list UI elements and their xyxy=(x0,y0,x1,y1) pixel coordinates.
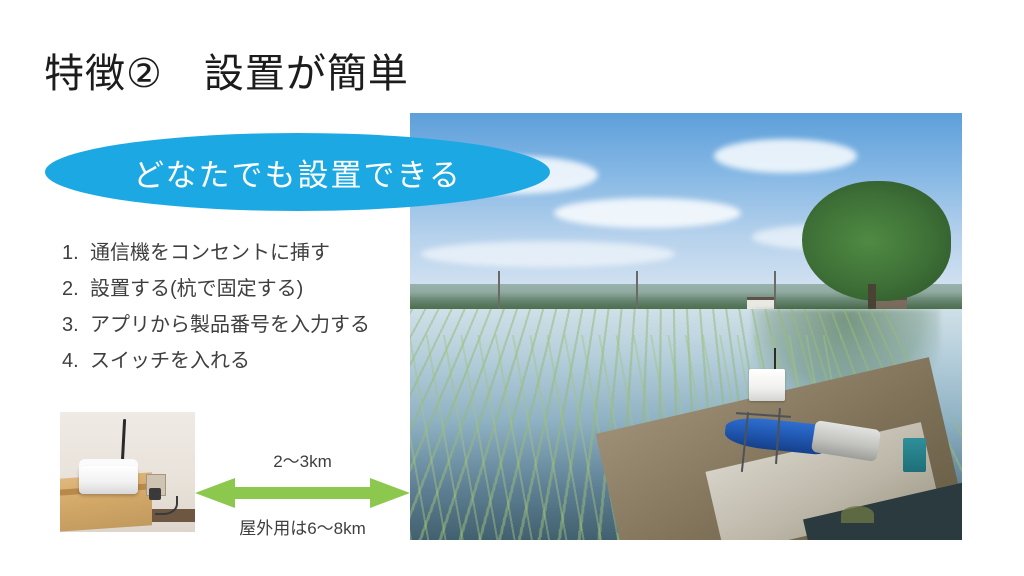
large-tree xyxy=(802,181,951,301)
presentation-slide: 特徴② 設置が簡単 どなたでも設置できる 1. 通信機をコンセントに挿す 2. … xyxy=(0,0,1024,576)
utility-pole xyxy=(636,271,638,309)
callout-ellipse: どなたでも設置できる xyxy=(45,133,550,211)
list-item-label: スイッチを入れる xyxy=(90,348,250,375)
router-body xyxy=(79,466,138,494)
list-item: 3. アプリから製品番号を入力する xyxy=(62,312,412,339)
router-photo xyxy=(60,412,195,532)
utility-pole xyxy=(498,271,500,309)
list-item-number: 2. xyxy=(62,276,90,303)
list-item: 1. 通信機をコンセントに挿す xyxy=(62,240,412,267)
list-item-label: 通信機をコンセントに挿す xyxy=(90,240,330,267)
double-arrow-icon xyxy=(195,477,410,509)
page-title: 特徴② 設置が簡単 xyxy=(44,50,409,98)
list-item-number: 3. xyxy=(62,312,90,339)
sensor-device xyxy=(749,369,785,401)
cloud xyxy=(714,139,858,173)
teal-device xyxy=(903,438,926,472)
distance-label-below: 屋外用は6〜8km xyxy=(195,514,410,539)
list-item-label: 設置する(杭で固定する) xyxy=(90,276,303,303)
steps-list: 1. 通信機をコンセントに挿す 2. 設置する(杭で固定する) 3. アプリから… xyxy=(62,240,412,384)
list-item-number: 4. xyxy=(62,348,90,375)
cloud xyxy=(421,241,675,267)
utility-pole xyxy=(774,271,776,309)
list-item: 4. スイッチを入れる xyxy=(62,348,412,375)
distance-label-above: 2〜3km xyxy=(195,447,410,472)
distance-indicator: 2〜3km 屋外用は6〜8km xyxy=(195,447,410,537)
list-item: 2. 設置する(杭で固定する) xyxy=(62,276,412,303)
callout-text: どなたでも設置できる xyxy=(133,150,462,195)
list-item-number: 1. xyxy=(62,240,90,267)
list-item-label: アプリから製品番号を入力する xyxy=(90,312,370,339)
grass-tuft xyxy=(841,506,874,523)
